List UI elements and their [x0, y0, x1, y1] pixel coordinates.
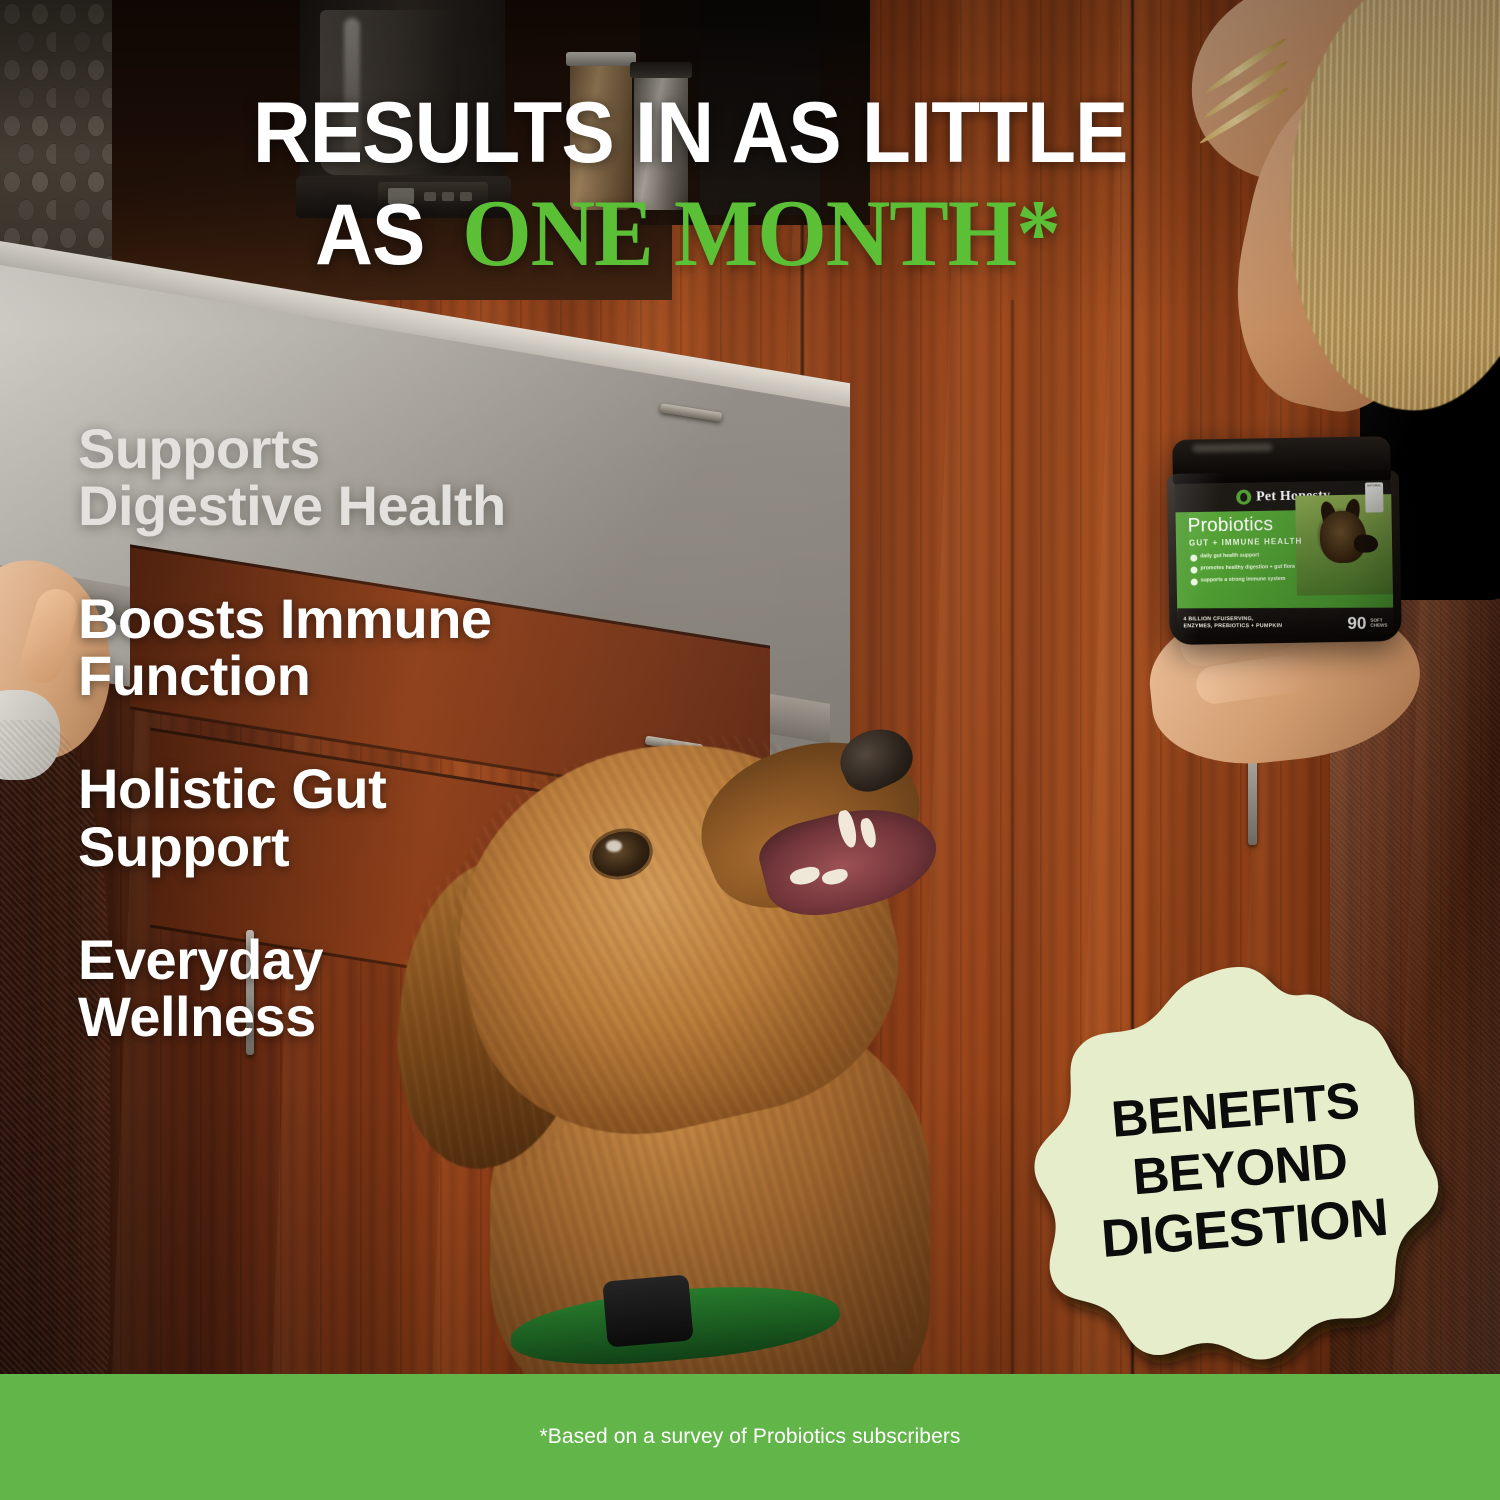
benefit-item-everyday-wellness: Everyday Wellness — [78, 931, 718, 1045]
headline-one-month-text: ONE MONTH* — [462, 187, 1060, 279]
benefit-list: Supports Digestive Health Boosts Immune … — [78, 420, 718, 1101]
headline-line-2: ASONE MONTH* — [0, 189, 1380, 277]
ad-creative: Pet Honesty Probiotics GUT + IMMUNE HEAL… — [0, 0, 1500, 1500]
jar-lid-highlight — [1192, 443, 1272, 452]
product-subtitle: GUT + IMMUNE HEALTH — [1189, 537, 1303, 548]
headline-as-text: AS — [315, 194, 424, 277]
headline: RESULTS IN AS LITTLE ASONE MONTH* — [0, 92, 1380, 277]
label-benefit-text: promotes healthy digestion + gut flora — [1200, 564, 1295, 572]
jar-label: Pet Honesty Probiotics GUT + IMMUNE HEAL… — [1175, 480, 1393, 614]
jar-chew-count-unit: SOFT CHEWS — [1370, 617, 1387, 628]
label-benefit-text: daily gut health support — [1200, 552, 1259, 560]
product-jar: Pet Honesty Probiotics GUT + IMMUNE HEAL… — [1166, 436, 1402, 645]
label-benefit-item: daily gut health support — [1190, 552, 1300, 562]
benefit-item-immune-function: Boosts Immune Function — [78, 590, 718, 704]
benefits-beyond-digestion-badge: BENEFITS BEYOND DIGESTION — [1025, 955, 1455, 1385]
label-benefit-item: promotes healthy digestion + gut flora — [1190, 564, 1300, 574]
jar-claim-text: 4 BILLION CFU/SERVING, ENZYMES, PREBIOTI… — [1183, 616, 1343, 631]
badge-text-block: BENEFITS BEYOND DIGESTION — [1009, 939, 1471, 1401]
benefit-item-digestive-health: Supports Digestive Health — [78, 420, 718, 534]
label-benefit-text: supports a strong immune system — [1201, 576, 1286, 584]
headline-line-1: RESULTS IN AS LITTLE — [0, 92, 1380, 175]
product-name: Probiotics — [1188, 514, 1274, 537]
footer-disclaimer-bar: *Based on a survey of Probiotics subscri… — [0, 1374, 1500, 1500]
headline-line-1-text: RESULTS IN AS LITTLE — [253, 92, 1128, 175]
label-dog-snout — [1354, 534, 1378, 552]
label-benefit-list: daily gut health support promotes health… — [1190, 552, 1301, 586]
benefit-item-gut-support: Holistic Gut Support — [78, 760, 718, 874]
jar-claim-band: 4 BILLION CFU/SERVING, ENZYMES, PREBIOTI… — [1177, 608, 1393, 639]
label-benefit-item: supports a strong immune system — [1191, 576, 1301, 586]
natural-seal-icon: NATURAL — [1365, 482, 1384, 512]
check-icon — [1190, 567, 1197, 574]
jar-chew-count: 90 — [1347, 614, 1366, 631]
paw-logo-icon — [1236, 490, 1251, 505]
check-icon — [1190, 555, 1197, 562]
check-icon — [1191, 579, 1198, 586]
footer-disclaimer-text: *Based on a survey of Probiotics subscri… — [539, 1425, 960, 1449]
